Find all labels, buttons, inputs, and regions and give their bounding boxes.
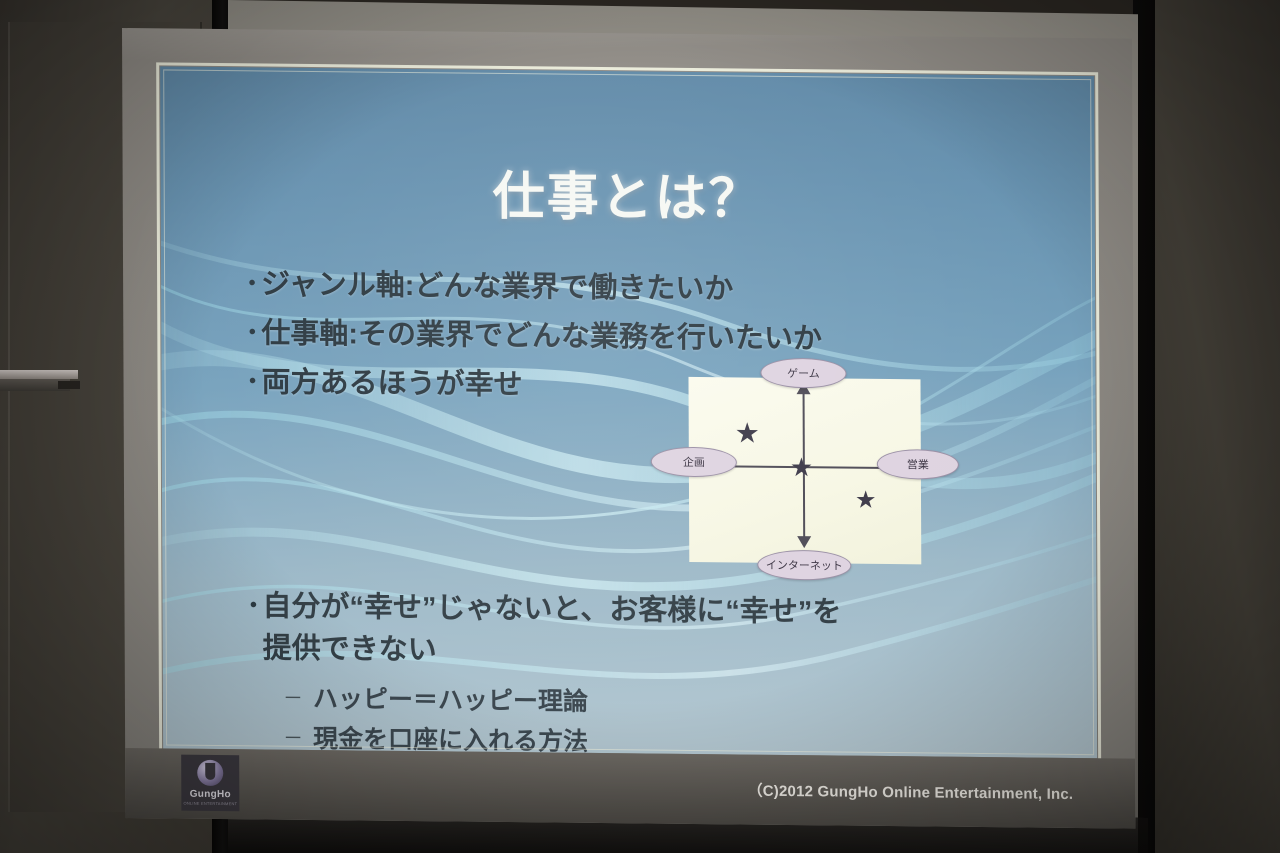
gungho-logo: GungHo ONLINE ENTERTAINMENT: [181, 755, 239, 812]
slide-border-frame-inner: [163, 69, 1094, 755]
wall-shelf-rail: [0, 370, 78, 379]
gungho-logo-mark-icon: [197, 760, 223, 786]
gungho-logo-subtext: ONLINE ENTERTAINMENT: [184, 801, 238, 807]
presentation-slide: 仕事とは？ ・ ジャンル軸:どんな業界で働きたいか ・ 仕事軸:その業界でどんな…: [122, 28, 1135, 829]
copyright-text: （C)2012 GungHo Online Entertainment, Inc…: [747, 780, 1073, 804]
wall-shelf-tag: [58, 381, 80, 389]
right-wall: [1150, 0, 1280, 853]
projected-slide-wrapper: 仕事とは？ ・ ジャンル軸:どんな業界で働きたいか ・ 仕事軸:その業界でどんな…: [122, 28, 1135, 839]
slide-footer: GungHo ONLINE ENTERTAINMENT （C)2012 Gung…: [125, 748, 1135, 829]
projector-room-scene: 仕事とは？ ・ ジャンル軸:どんな業界で働きたいか ・ 仕事軸:その業界でどんな…: [0, 0, 1280, 853]
gungho-logo-text: GungHo: [190, 789, 231, 800]
